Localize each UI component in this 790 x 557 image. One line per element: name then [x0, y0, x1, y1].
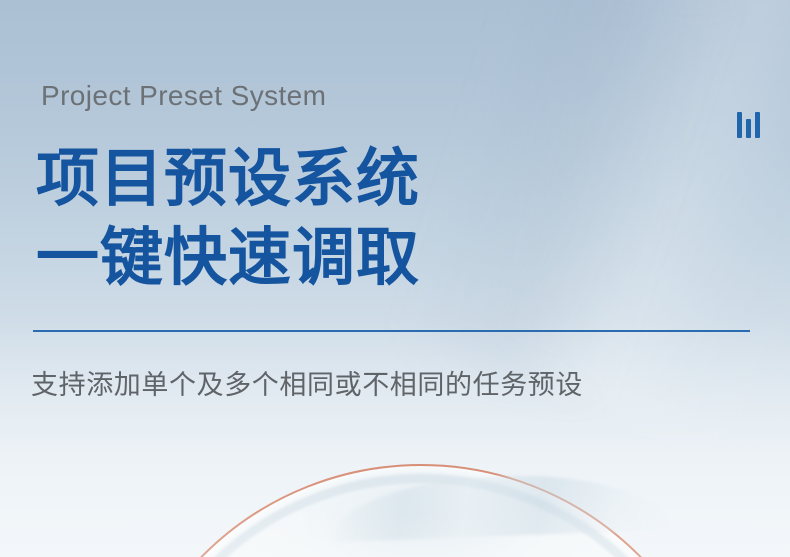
logo-bar-left [737, 112, 742, 138]
logo-bar-right [755, 112, 760, 138]
eyebrow-title: Project Preset System [41, 80, 326, 112]
hero-banner: Project Preset System 项目预设系统 一键快速调取 支持添加… [0, 0, 790, 557]
page-title-line-2: 一键快速调取 [36, 219, 420, 298]
page-title-line-1: 项目预设系统 [36, 140, 420, 219]
dome-glass-band [122, 474, 720, 557]
logo-bar-middle [746, 119, 751, 138]
subtitle-text: 支持添加单个及多个相同或不相同的任务预设 [31, 363, 583, 402]
dome-texture-highlight [329, 470, 671, 542]
title-divider [33, 330, 750, 332]
dome-body [114, 466, 728, 557]
bottom-haze-overlay [0, 317, 790, 557]
light-streak-decoration-2 [400, 0, 730, 402]
page-title: 项目预设系统 一键快速调取 [36, 140, 420, 298]
three-bars-logo-icon [737, 111, 764, 138]
dome-rim-outline [112, 464, 730, 557]
